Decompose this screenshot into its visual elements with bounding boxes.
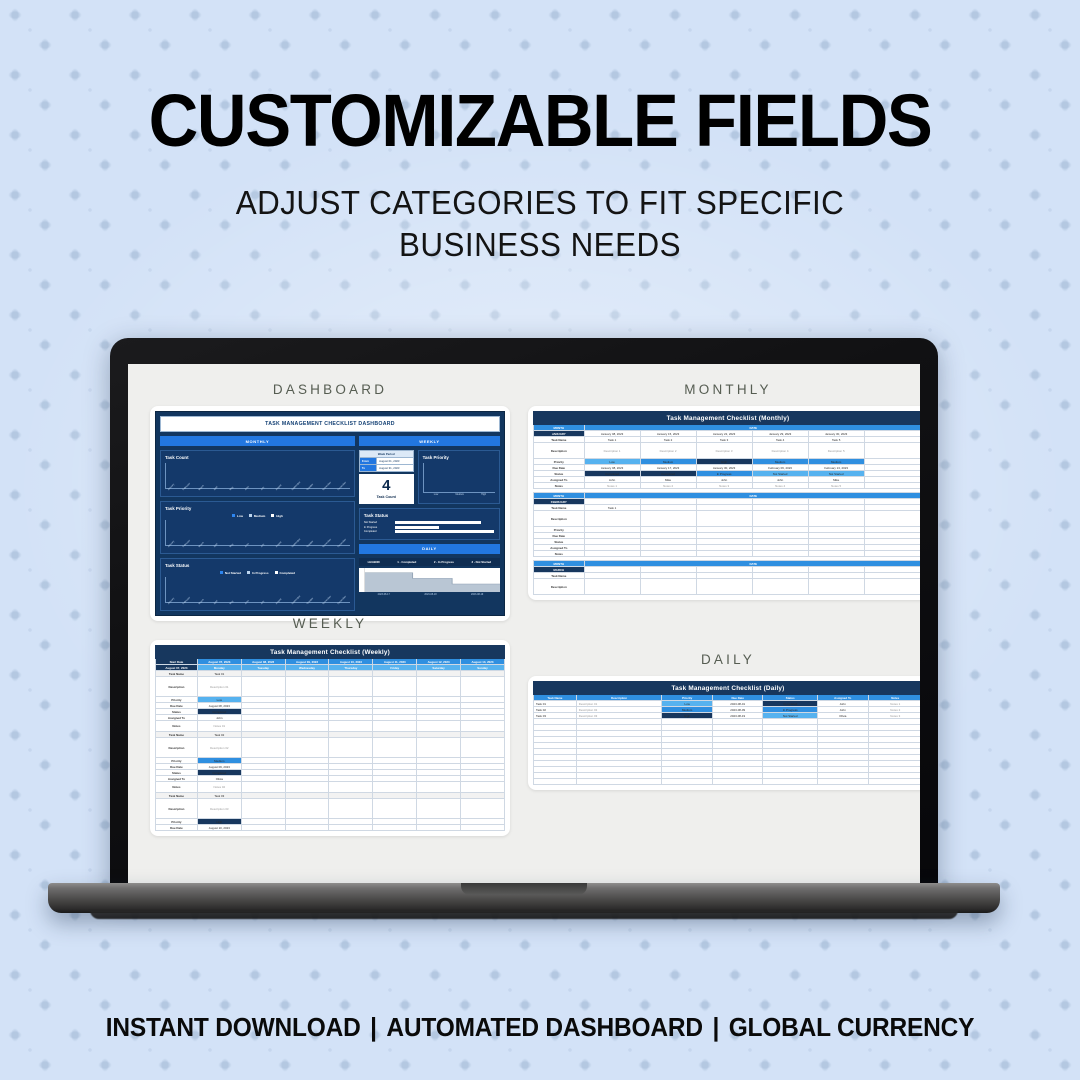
monthly-cell[interactable]	[864, 511, 920, 527]
weekly-cell[interactable]	[241, 782, 285, 793]
weekly-cell[interactable]	[461, 782, 505, 793]
row-label-due-date: Due Date	[156, 825, 198, 831]
weekly-cell[interactable]: Description 03	[197, 799, 241, 819]
weekly-cell[interactable]	[461, 825, 505, 831]
section-title-daily: DAILY	[528, 652, 920, 667]
axis-task-priority-weekly: Low Medium High	[425, 493, 495, 496]
row-label-notes: Notes	[156, 721, 198, 732]
subtitle-line-1: ADJUST CATEGORIES TO FIT SPECIFIC	[27, 182, 1053, 224]
monthly-cell[interactable]	[808, 579, 864, 595]
daily-legend-item: LEGEND	[368, 560, 380, 564]
dashboard-quadrant: DASHBOARD TASK MANAGEMENT CHECKLIST DASH…	[150, 382, 510, 621]
monthly-cell[interactable]: Description 5	[808, 443, 864, 459]
week-from-label: From	[359, 458, 376, 465]
panel-title-task-status-weekly: Task Status	[364, 513, 495, 518]
weekly-cell[interactable]	[329, 782, 373, 793]
weekly-cell[interactable]	[285, 677, 329, 697]
axis-label: Low	[425, 493, 448, 496]
weekly-cell[interactable]: Notes 02	[197, 782, 241, 793]
legend-item: Low	[232, 514, 243, 518]
legend-item: Medium	[249, 514, 265, 518]
panel-title-task-priority: Task Priority	[165, 506, 350, 511]
monthly-card: Task Management Checklist (Monthly) MONT…	[528, 406, 920, 600]
weekly-cell[interactable]	[417, 782, 461, 793]
legend-label: In Progress	[252, 571, 269, 575]
monthly-cell[interactable]	[864, 443, 920, 459]
table-row[interactable]	[534, 779, 921, 785]
weekly-cell[interactable]	[241, 721, 285, 732]
weekly-cell[interactable]	[417, 677, 461, 697]
monthly-cell[interactable]: Description 2	[640, 443, 696, 459]
row-label-description: Description	[156, 677, 198, 697]
monthly-cell[interactable]	[584, 511, 640, 527]
footer-item-global-currency: GLOBAL CURRENCY	[729, 1014, 975, 1042]
monthly-cell[interactable]	[752, 511, 808, 527]
weekly-cell[interactable]	[329, 799, 373, 819]
weekly-cell[interactable]	[373, 721, 417, 732]
legend-label: High	[276, 514, 283, 518]
weekly-cell[interactable]	[285, 825, 329, 831]
weekly-cell[interactable]	[417, 799, 461, 819]
daily-quadrant: DAILY Task Management Checklist (Daily) …	[528, 652, 920, 790]
panel-title-task-status: Task Status	[165, 563, 350, 568]
legend-item: High	[271, 514, 283, 518]
chart-task-status-monthly	[165, 577, 350, 603]
axis-daily-trend: 2023-08-17 2023-08-18 2023-08-19	[361, 593, 500, 596]
daily-table[interactable]: Task Management Checklist (Daily) Task N…	[533, 681, 920, 785]
kpi-value: 4	[359, 478, 414, 493]
row-label-notes: Notes	[156, 782, 198, 793]
monthly-cell[interactable]: Description 3	[696, 443, 752, 459]
weekly-cell[interactable]	[373, 738, 417, 758]
panel-task-status-monthly: Task Status Not Started In Progress Comp…	[160, 558, 355, 611]
weekly-cell[interactable]	[241, 738, 285, 758]
daily-cell[interactable]	[817, 779, 868, 785]
weekly-cell[interactable]	[373, 825, 417, 831]
axis-label: 2023-08-17	[361, 593, 407, 596]
dashboard-card: TASK MANAGEMENT CHECKLIST DASHBOARD MONT…	[150, 406, 510, 621]
chart-task-priority-weekly	[423, 463, 495, 493]
subtitle-line-2: BUSINESS NEEDS	[27, 224, 1053, 266]
monthly-cell[interactable]	[640, 579, 696, 595]
monthly-cell[interactable]	[752, 579, 808, 595]
monthly-cell[interactable]	[584, 579, 640, 595]
weekly-quadrant: WEEKLY Task Management Checklist (Weekly…	[150, 616, 510, 836]
kpi-label: Task Count	[359, 495, 414, 499]
spreadsheet-canvas: DASHBOARD TASK MANAGEMENT CHECKLIST DASH…	[128, 364, 920, 888]
daily-card: Task Management Checklist (Daily) Task N…	[528, 676, 920, 790]
footer-separator: |	[361, 1014, 387, 1043]
daily-cell[interactable]	[662, 779, 713, 785]
daily-table-title: Task Management Checklist (Daily)	[534, 682, 921, 695]
daily-legend-item: 3 - Not Started	[471, 560, 491, 564]
legend-label: Medium	[254, 514, 265, 518]
week-period-title: Week Period	[359, 451, 413, 458]
monthly-cell[interactable]	[808, 511, 864, 527]
weekly-cell[interactable]: Notes 01	[197, 721, 241, 732]
monthly-cell[interactable]: Description 1	[584, 443, 640, 459]
band-daily: DAILY	[359, 544, 500, 554]
daily-legend-item: 2 - In Progress	[434, 560, 454, 564]
dashboard-sheet: TASK MANAGEMENT CHECKLIST DASHBOARD MONT…	[155, 411, 505, 616]
weekly-cell[interactable]	[461, 799, 505, 819]
page-subtitle: ADJUST CATEGORIES TO FIT SPECIFIC BUSINE…	[27, 182, 1053, 266]
row-label-description: Description	[156, 738, 198, 758]
axis-task-priority-monthly: January February March April May June Ju…	[167, 546, 350, 549]
weekly-cell[interactable]: August 10, 2023	[197, 825, 241, 831]
axis-label: High	[472, 493, 495, 496]
weekly-table-title: Task Management Checklist (Weekly)	[156, 646, 505, 659]
row-label-description: Description	[534, 579, 585, 595]
legend-priority: Low Medium High	[165, 514, 350, 518]
monthly-quadrant: MONTHLY Task Management Checklist (Month…	[528, 382, 920, 600]
panel-title-task-count: Task Count	[165, 455, 350, 460]
daily-legend-item: 1 - Completed	[397, 560, 416, 564]
week-period-table: Week Period From August 01, 2023 To	[359, 450, 414, 472]
footer-item-automated-dashboard: AUTOMATED DASHBOARD	[386, 1014, 702, 1042]
chart-task-priority-monthly	[165, 520, 350, 546]
weekly-cell[interactable]	[373, 799, 417, 819]
weekly-cell[interactable]	[461, 721, 505, 732]
daily-cell[interactable]	[534, 779, 577, 785]
laptop-lid: DASHBOARD TASK MANAGEMENT CHECKLIST DASH…	[110, 338, 938, 898]
weekly-cell[interactable]	[285, 799, 329, 819]
weekly-cell[interactable]	[373, 677, 417, 697]
row-label-description: Description	[534, 511, 585, 527]
monthly-cell[interactable]	[696, 511, 752, 527]
monthly-cell[interactable]	[864, 579, 920, 595]
section-title-monthly: MONTHLY	[528, 382, 920, 397]
daily-legend: LEGEND 1 - Completed 2 - In Progress 3 -…	[359, 558, 500, 566]
weekly-cell[interactable]	[241, 825, 285, 831]
weekly-cell[interactable]	[285, 721, 329, 732]
row-label-description: Description	[156, 799, 198, 819]
hbar-label: In Progress	[364, 526, 393, 529]
axis-task-count: January February March April May June Ju…	[167, 489, 350, 492]
week-to-label: To	[359, 465, 376, 472]
band-weekly: WEEKLY	[359, 436, 500, 446]
weekly-cell[interactable]: Description 01	[197, 677, 241, 697]
page-title: CUSTOMIZABLE FIELDS	[38, 84, 1042, 158]
weekly-table[interactable]: Task Management Checklist (Weekly) Start…	[155, 645, 505, 831]
legend-label: Completed	[280, 571, 296, 575]
hbar-row: Completed	[364, 530, 495, 533]
week-to-value[interactable]: August 31, 2023	[377, 465, 413, 472]
monthly-cell[interactable]: Description 4	[752, 443, 808, 459]
laptop-base	[48, 883, 1000, 913]
weekly-cell[interactable]	[373, 782, 417, 793]
axis-task-status-monthly: January February March April May June Ju…	[167, 603, 350, 606]
dashboard-right-column: WEEKLY Week Period From August 01,	[359, 436, 500, 611]
monthly-table[interactable]: Task Management Checklist (Monthly) MONT…	[533, 411, 920, 595]
laptop-mockup: DASHBOARD TASK MANAGEMENT CHECKLIST DASH…	[110, 338, 970, 948]
hbar-label: Completed	[364, 530, 393, 533]
weekly-cell[interactable]	[285, 738, 329, 758]
monthly-cell[interactable]	[640, 511, 696, 527]
weekly-cell[interactable]	[417, 721, 461, 732]
weekly-cell[interactable]: Description 02	[197, 738, 241, 758]
laptop-screen: DASHBOARD TASK MANAGEMENT CHECKLIST DASH…	[128, 364, 920, 888]
chart-daily-trend	[359, 568, 500, 592]
hbar-row: Not Started	[364, 521, 495, 524]
weekly-cell[interactable]	[461, 738, 505, 758]
axis-label: 2023-08-19	[454, 593, 500, 596]
monthly-table-title: Task Management Checklist (Monthly)	[534, 412, 921, 425]
weekly-cell[interactable]	[329, 721, 373, 732]
legend-item: In Progress	[247, 571, 269, 575]
chart-task-count	[165, 463, 350, 489]
kpi-task-count: 4 Task Count	[359, 474, 414, 504]
footer-item-instant-download: INSTANT DOWNLOAD	[106, 1014, 361, 1042]
section-title-weekly: WEEKLY	[150, 616, 510, 631]
weekly-cell[interactable]	[329, 738, 373, 758]
panel-task-priority-monthly: Task Priority Low Medium High	[160, 501, 355, 554]
weekly-cell[interactable]	[285, 782, 329, 793]
chart-task-status-weekly: Not Started In Progress Completed	[364, 521, 495, 533]
weekly-card: Task Management Checklist (Weekly) Start…	[150, 640, 510, 836]
hbar-label: Not Started	[364, 521, 393, 524]
legend-item: Not Started	[220, 571, 241, 575]
weekly-cell[interactable]	[417, 738, 461, 758]
section-title-dashboard: DASHBOARD	[150, 382, 510, 397]
legend-item: Completed	[275, 571, 296, 575]
week-from-value[interactable]: August 01, 2023	[377, 458, 413, 465]
panel-task-status-weekly: Task Status Not Started In Progress	[359, 508, 500, 540]
weekly-cell[interactable]	[329, 677, 373, 697]
laptop-base-notch	[461, 883, 587, 895]
dashboard-title: TASK MANAGEMENT CHECKLIST DASHBOARD	[160, 416, 500, 432]
laptop-base-foot	[90, 910, 958, 919]
dashboard-left-column: MONTHLY Task Count	[160, 436, 355, 611]
panel-task-count: Task Count	[160, 450, 355, 497]
axis-label: 2023-08-18	[408, 593, 454, 596]
monthly-cell[interactable]	[696, 579, 752, 595]
legend-label: Not Started	[225, 571, 241, 575]
hbar-row: In Progress	[364, 526, 495, 529]
legend-status: Not Started In Progress Completed	[165, 571, 350, 575]
weekly-cell[interactable]	[241, 677, 285, 697]
row-label-description: Description	[534, 443, 585, 459]
panel-task-priority-weekly: Task Priority	[418, 450, 500, 504]
weekly-cell[interactable]	[329, 825, 373, 831]
headline-block: CUSTOMIZABLE FIELDS ADJUST CATEGORIES TO…	[0, 84, 1080, 266]
weekly-top-row: Week Period From August 01, 2023 To	[359, 450, 500, 504]
footer-strip: INSTANT DOWNLOAD|AUTOMATED DASHBOARD|GLO…	[22, 1014, 1059, 1043]
legend-label: Low	[237, 514, 243, 518]
band-monthly: MONTHLY	[160, 436, 355, 446]
daily-cell[interactable]	[763, 779, 817, 785]
weekly-cell[interactable]	[417, 825, 461, 831]
weekly-cell[interactable]	[461, 677, 505, 697]
daily-cell[interactable]	[576, 779, 662, 785]
daily-cell[interactable]	[712, 779, 763, 785]
weekly-cell[interactable]	[241, 799, 285, 819]
daily-cell[interactable]	[868, 779, 920, 785]
axis-label: Medium	[448, 493, 471, 496]
panel-title-task-priority-weekly: Task Priority	[423, 455, 495, 460]
footer-separator: |	[703, 1014, 729, 1043]
